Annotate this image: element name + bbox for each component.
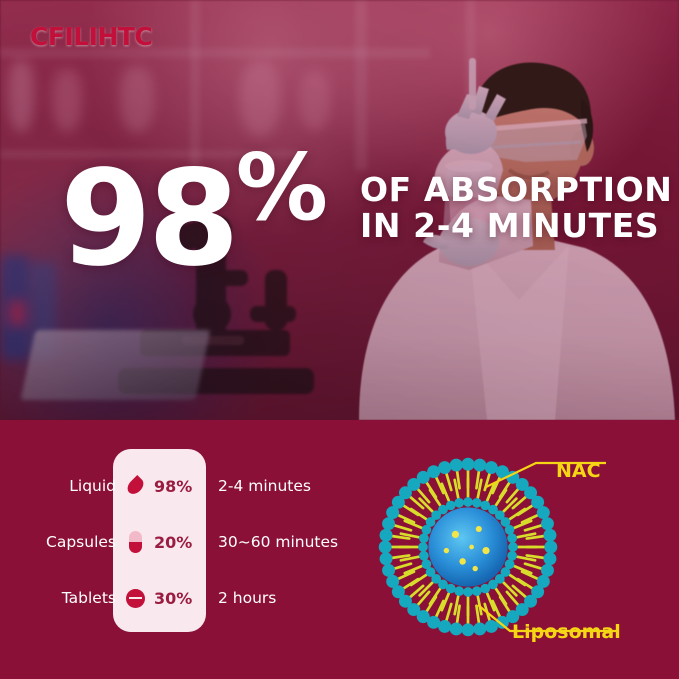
row-label: Liquid bbox=[40, 477, 116, 495]
table-row: Liquid 98% 2-4 minutes bbox=[40, 458, 360, 514]
row-label: Tablets bbox=[40, 589, 116, 607]
comparison-table: Liquid 98% 2-4 minutes Capsules 20% 30~6… bbox=[40, 458, 360, 626]
comparison-panel: Liquid 98% 2-4 minutes Capsules 20% 30~6… bbox=[0, 420, 679, 679]
hero-photo: CFILIHTC 98% OF ABSORPTION IN 2-4 MINUTE… bbox=[0, 0, 679, 420]
drop-icon bbox=[116, 477, 154, 495]
hero-headline: 98% OF ABSORPTION IN 2-4 MINUTES bbox=[60, 140, 660, 270]
hero-percent-symbol: % bbox=[236, 134, 326, 241]
row-time: 2-4 minutes bbox=[206, 477, 311, 495]
row-time: 30~60 minutes bbox=[206, 533, 338, 551]
table-row: Capsules 20% 30~60 minutes bbox=[40, 514, 360, 570]
capsule-icon bbox=[116, 531, 154, 553]
tablet-icon bbox=[116, 589, 154, 608]
callout-leader-lines bbox=[360, 435, 660, 665]
liposome-diagram: NAC Liposomal bbox=[360, 435, 660, 665]
row-percent: 98% bbox=[154, 477, 206, 496]
row-percent: 20% bbox=[154, 533, 206, 552]
table-row: Tablets 30% 2 hours bbox=[40, 570, 360, 626]
hero-percent-value: 98% bbox=[60, 122, 326, 285]
hero-subline-2: IN 2-4 MINUTES bbox=[360, 206, 659, 245]
row-label: Capsules bbox=[40, 533, 116, 551]
row-percent: 30% bbox=[154, 589, 206, 608]
hero-percent-number: 98 bbox=[60, 142, 236, 296]
brand-logo: CFILIHTC bbox=[30, 22, 152, 51]
row-time: 2 hours bbox=[206, 589, 276, 607]
product-infographic: CFILIHTC 98% OF ABSORPTION IN 2-4 MINUTE… bbox=[0, 0, 679, 679]
hero-subline-1: OF ABSORPTION bbox=[360, 170, 672, 209]
